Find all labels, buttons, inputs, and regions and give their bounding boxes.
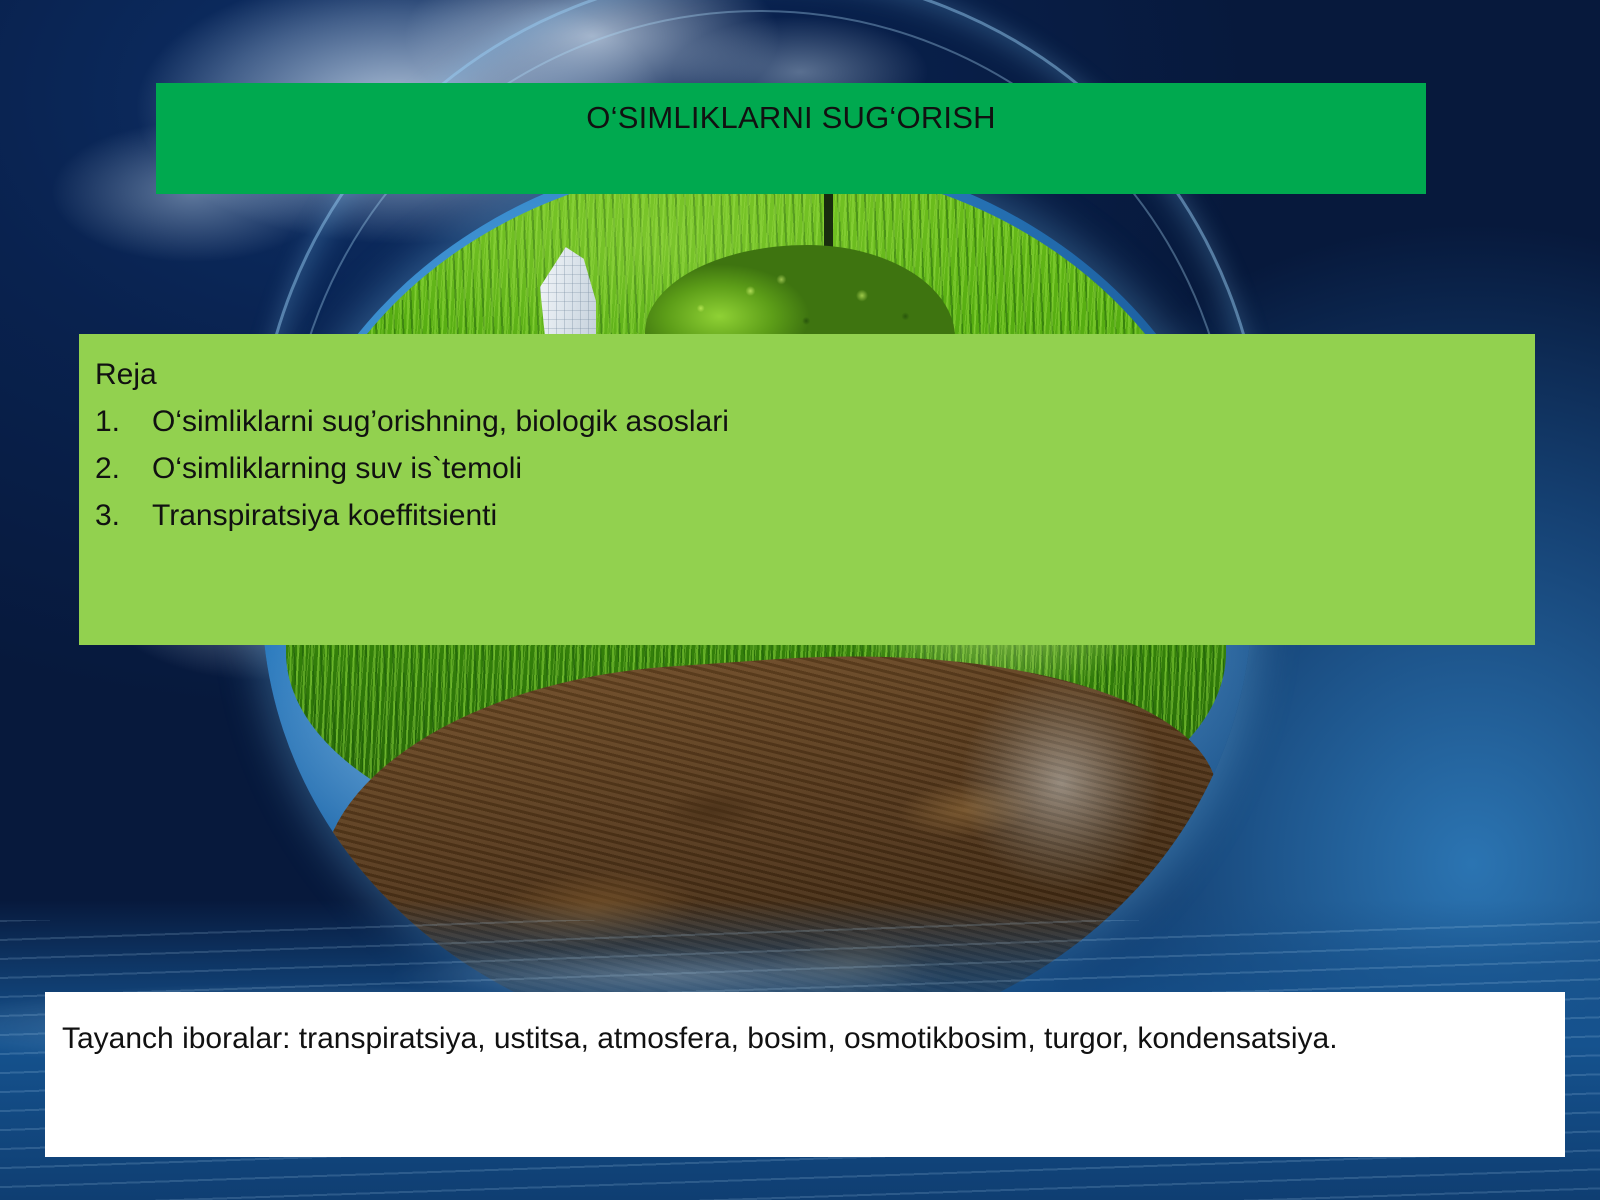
presentation-slide: O‘SIMLIKLARNI SUG‘ORISH Reja 1. O‘simlik… xyxy=(0,0,1600,1200)
keywords-box: Tayanch iboralar: transpiratsiya, ustits… xyxy=(45,992,1565,1157)
list-item-number: 2. xyxy=(95,445,152,492)
list-item-label: O‘simliklarni sug’orishning, biologik as… xyxy=(152,398,1535,445)
title-banner: O‘SIMLIKLARNI SUG‘ORISH xyxy=(156,83,1426,194)
list-item: 1. O‘simliklarni sug’orishning, biologik… xyxy=(95,398,1535,445)
list-item-number: 1. xyxy=(95,398,152,445)
list-item: 3. Transpiratsiya koeffitsienti xyxy=(95,492,1535,539)
keywords-text: Tayanch iboralar: transpiratsiya, ustits… xyxy=(62,1014,1519,1064)
outline-heading: Reja xyxy=(95,352,1535,397)
list-item-label: O‘simliklarning suv is`temoli xyxy=(152,445,1535,492)
outline-list: 1. O‘simliklarni sug’orishning, biologik… xyxy=(95,398,1535,539)
list-item-number: 3. xyxy=(95,492,152,539)
list-item-label: Transpiratsiya koeffitsienti xyxy=(152,492,1535,539)
list-item: 2. O‘simliklarning suv is`temoli xyxy=(95,445,1535,492)
slide-title: O‘SIMLIKLARNI SUG‘ORISH xyxy=(586,100,995,136)
outline-content-box: Reja 1. O‘simliklarni sug’orishning, bio… xyxy=(79,334,1535,645)
